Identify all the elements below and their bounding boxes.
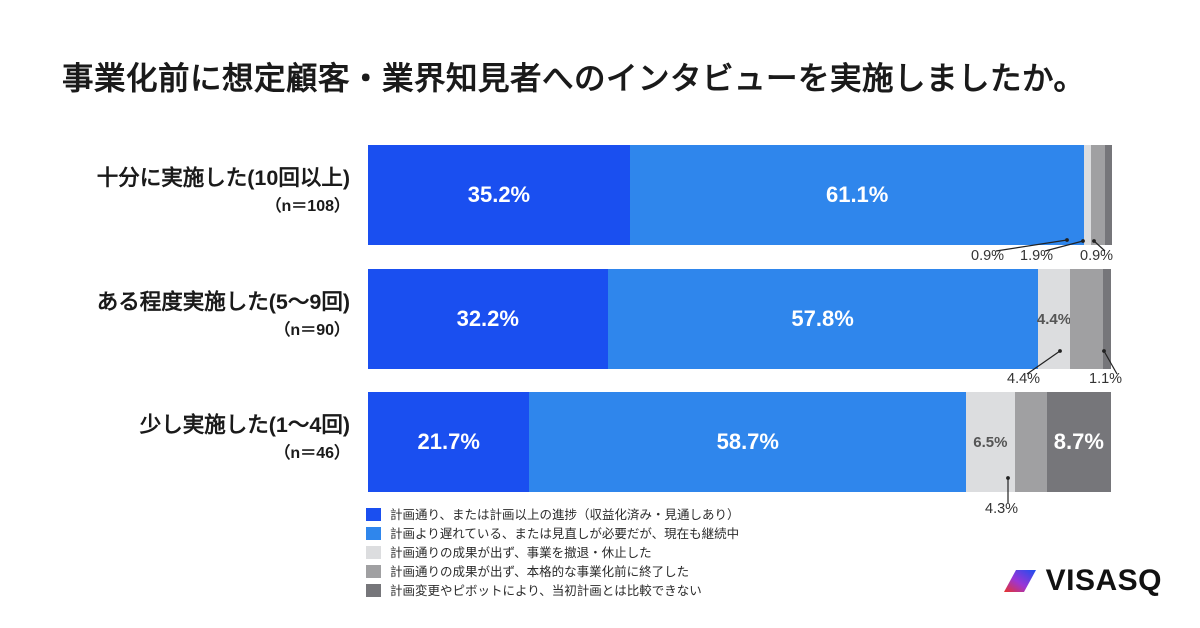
callout-1-3: 0.9% [971,249,1004,264]
brand-logo: VISASQ [1003,566,1162,596]
stacked-bar-2: 32.2% 57.8% 4.4% 4.4% 1.1% [368,269,1112,369]
bar-segment-1-2[interactable]: 61.1% [630,145,1085,245]
legend-item-1[interactable]: 計画通り、または計画以上の進捗（収益化済み・見通しあり） [366,506,926,524]
bar-segment-1-4[interactable]: 1.9% [1091,145,1105,245]
legend-item-2[interactable]: 計画より遅れている、または見直しが必要だが、現在も継続中 [366,525,926,543]
bar-segment-3-2[interactable]: 58.7% [529,392,966,492]
chart-row-3: 少し実施した(1〜4回) （n＝46） 21.7% 58.7% 6.5% 4.3… [0,392,1200,492]
bar-segment-2-2-value: 57.8% [791,308,853,330]
callout-1-5: 0.9% [1080,249,1113,264]
category-label-1: 十分に実施した(10回以上) （n＝108） [40,145,350,216]
visasq-wordmark: VISASQ [1046,566,1162,596]
category-label-2: ある程度実施した(5〜9回) （n＝90） [40,269,350,340]
legend-swatch-icon-1 [366,508,381,521]
legend-item-5[interactable]: 計画変更やピボットにより、当初計画とは比較できない [366,582,926,600]
legend-item-3[interactable]: 計画通りの成果が出ず、事業を撤退・休止した [366,544,926,562]
bar-segment-3-3-value: 6.5% [973,435,1007,450]
legend-label-5: 計画変更やピボットにより、当初計画とは比較できない [390,585,702,598]
chart-row-1: 十分に実施した(10回以上) （n＝108） 35.2% 61.1% 0.9% … [0,145,1200,245]
visasq-mark-icon [1003,568,1037,594]
bar-segment-2-2[interactable]: 57.8% [608,269,1038,369]
bar-segment-1-3[interactable]: 0.9% [1084,145,1091,245]
bar-segment-3-5-value: 8.7% [1054,431,1104,453]
legend-swatch-icon-3 [366,546,381,559]
stacked-bar-1: 35.2% 61.1% 0.9% 1.9% 0.9% [368,145,1112,245]
bar-segment-2-3-value: 4.4% [1037,312,1071,327]
chart-legend: 計画通り、または計画以上の進捗（収益化済み・見通しあり） 計画より遅れている、ま… [366,506,926,601]
page-title: 事業化前に想定顧客・業界知見者へのインタビューを実施しましたか。 [62,53,1162,99]
bar-segment-2-1-value: 32.2% [457,308,519,330]
legend-label-4: 計画通りの成果が出ず、本格的な事業化前に終了した [390,566,689,579]
legend-swatch-icon-5 [366,584,381,597]
chart-container: 事業化前に想定顧客・業界知見者へのインタビューを実施しましたか。 十分に実施した… [0,0,1200,628]
bar-segment-3-5[interactable]: 8.7% [1047,392,1112,492]
bar-segment-3-1-value: 21.7% [418,431,480,453]
bar-segment-2-4[interactable]: 4.4% [1070,269,1103,369]
bar-segment-2-5[interactable]: 1.1% [1103,269,1111,369]
bar-segment-3-4[interactable]: 4.3% [1015,392,1047,492]
bar-segment-3-3[interactable]: 6.5% [966,392,1014,492]
callout-2-4: 4.4% [1007,372,1040,387]
bar-segment-2-1[interactable]: 32.2% [368,269,608,369]
legend-label-1: 計画通り、または計画以上の進捗（収益化済み・見通しあり） [390,509,740,522]
bar-segment-3-1[interactable]: 21.7% [368,392,529,492]
category-label-3-main: 少し実施した(1〜4回) [40,413,350,438]
bar-segment-2-3[interactable]: 4.4% [1038,269,1071,369]
bar-segment-1-2-value: 61.1% [826,184,888,206]
legend-label-2: 計画より遅れている、または見直しが必要だが、現在も継続中 [390,528,739,541]
category-label-2-count: （n＝90） [40,321,350,340]
legend-swatch-icon-2 [366,527,381,540]
stacked-bar-3: 21.7% 58.7% 6.5% 4.3% 8.7% [368,392,1112,492]
category-label-3: 少し実施した(1〜4回) （n＝46） [40,392,350,463]
category-label-1-main: 十分に実施した(10回以上) [40,166,350,191]
callout-1-4: 1.9% [1020,249,1053,264]
legend-swatch-icon-4 [366,565,381,578]
category-label-2-main: ある程度実施した(5〜9回) [40,290,350,315]
legend-item-4[interactable]: 計画通りの成果が出ず、本格的な事業化前に終了した [366,563,926,581]
callout-3-4: 4.3% [985,502,1018,517]
category-label-1-count: （n＝108） [40,197,350,216]
bar-segment-3-2-value: 58.7% [717,431,779,453]
callout-2-5: 1.1% [1089,372,1122,387]
category-label-3-count: （n＝46） [40,444,350,463]
bar-segment-1-1-value: 35.2% [468,184,530,206]
bar-segment-1-5[interactable]: 0.9% [1105,145,1112,245]
legend-label-3: 計画通りの成果が出ず、事業を撤退・休止した [390,547,652,560]
chart-row-2: ある程度実施した(5〜9回) （n＝90） 32.2% 57.8% 4.4% 4… [0,269,1200,369]
bar-segment-1-1[interactable]: 35.2% [368,145,630,245]
